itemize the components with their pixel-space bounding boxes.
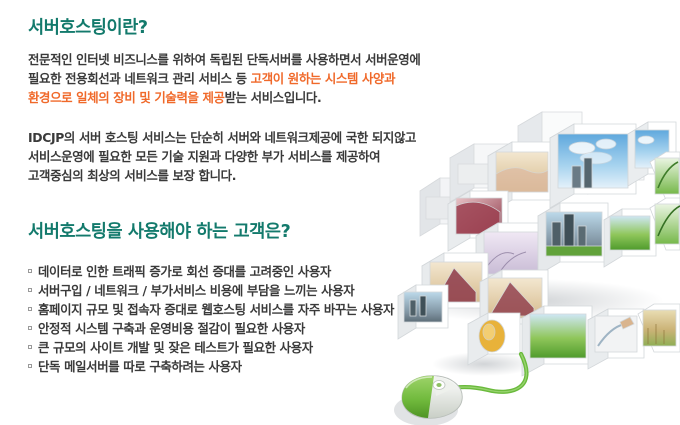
- square-bullet-icon: [28, 326, 32, 330]
- target-customer-list: 데이터로 인한 트래픽 증가로 회선 증대를 고려중인 사용자 서버구입 / 네…: [28, 262, 394, 376]
- square-bullet-icon: [28, 364, 32, 368]
- paragraph-idcjp-description: IDCJP의 서버 호스팅 서비스는 단순히 서버와 네트워크제공에 국한 되지…: [28, 128, 416, 185]
- computer-mouse-shape: [394, 376, 462, 425]
- list-item-label: 홈페이지 규모 및 접속자 증대로 웹호스팅 서비스를 자주 바꾸는 사용자: [38, 300, 394, 319]
- list-item-label: 안정적 시스템 구축과 운영비용 절감이 필요한 사용자: [38, 319, 305, 338]
- paragraph-line: IDCJP의 서버 호스팅 서비스는 단순히 서버와 네트워크제공에 국한 되지…: [28, 128, 416, 147]
- section-heading-what-is-server-hosting: 서버호스팅이란?: [28, 18, 148, 39]
- paragraph-line: 고객중심의 최상의 서비스를 보장 합니다.: [28, 166, 416, 185]
- square-bullet-icon: [28, 269, 32, 273]
- list-item: 서버구입 / 네트워크 / 부가서비스 비용에 부담을 느끼는 사용자: [28, 281, 394, 300]
- paragraph-line: 서비스운영에 필요한 모든 기술 지원과 다양한 부가 서비스를 제공하여: [28, 147, 416, 166]
- paragraph-line: 환경으로 일체의 장비 및 기술력을 제공받는 서비스입니다.: [28, 88, 420, 107]
- list-item: 큰 규모의 사이트 개발 및 잦은 테스트가 필요한 사용자: [28, 338, 394, 357]
- list-item: 데이터로 인한 트래픽 증가로 회선 증대를 고려중인 사용자: [28, 262, 394, 281]
- list-item-label: 서버구입 / 네트워크 / 부가서비스 비용에 부담을 느끼는 사용자: [38, 281, 354, 300]
- paragraph-intro: 전문적인 인터넷 비즈니스를 위하여 독립된 단독서버를 사용하면서 서버운영에…: [28, 50, 420, 107]
- list-item: 단독 메일서버를 따로 구축하려는 사용자: [28, 357, 394, 376]
- highlighted-text: 고객이 원하는 시스템 사양과: [251, 71, 395, 86]
- highlighted-text: 환경으로 일체의 장비 및 기술력을 제공: [28, 90, 225, 105]
- list-item-label: 단독 메일서버를 따로 구축하려는 사용자: [38, 357, 242, 376]
- list-item-label: 큰 규모의 사이트 개발 및 잦은 테스트가 필요한 사용자: [38, 338, 313, 357]
- cube-collage-illustration: [392, 96, 680, 425]
- square-bullet-icon: [28, 345, 32, 349]
- paragraph-line: 필요한 전용회선과 네트워크 관리 서비스 등 고객이 원하는 시스템 사양과: [28, 69, 420, 88]
- square-bullet-icon: [28, 288, 32, 292]
- page-root: 서버호스팅이란? 전문적인 인터넷 비즈니스를 위하여 독립된 단독서버를 사용…: [0, 0, 680, 425]
- section-heading-target-customers: 서버호스팅을 사용해야 하는 고객은?: [28, 222, 290, 243]
- paragraph-line: 전문적인 인터넷 비즈니스를 위하여 독립된 단독서버를 사용하면서 서버운영에: [28, 50, 420, 69]
- list-item: 안정적 시스템 구축과 운영비용 절감이 필요한 사용자: [28, 319, 394, 338]
- list-item-label: 데이터로 인한 트래픽 증가로 회선 증대를 고려중인 사용자: [38, 262, 331, 281]
- list-item: 홈페이지 규모 및 접속자 증대로 웹호스팅 서비스를 자주 바꾸는 사용자: [28, 300, 394, 319]
- square-bullet-icon: [28, 307, 32, 311]
